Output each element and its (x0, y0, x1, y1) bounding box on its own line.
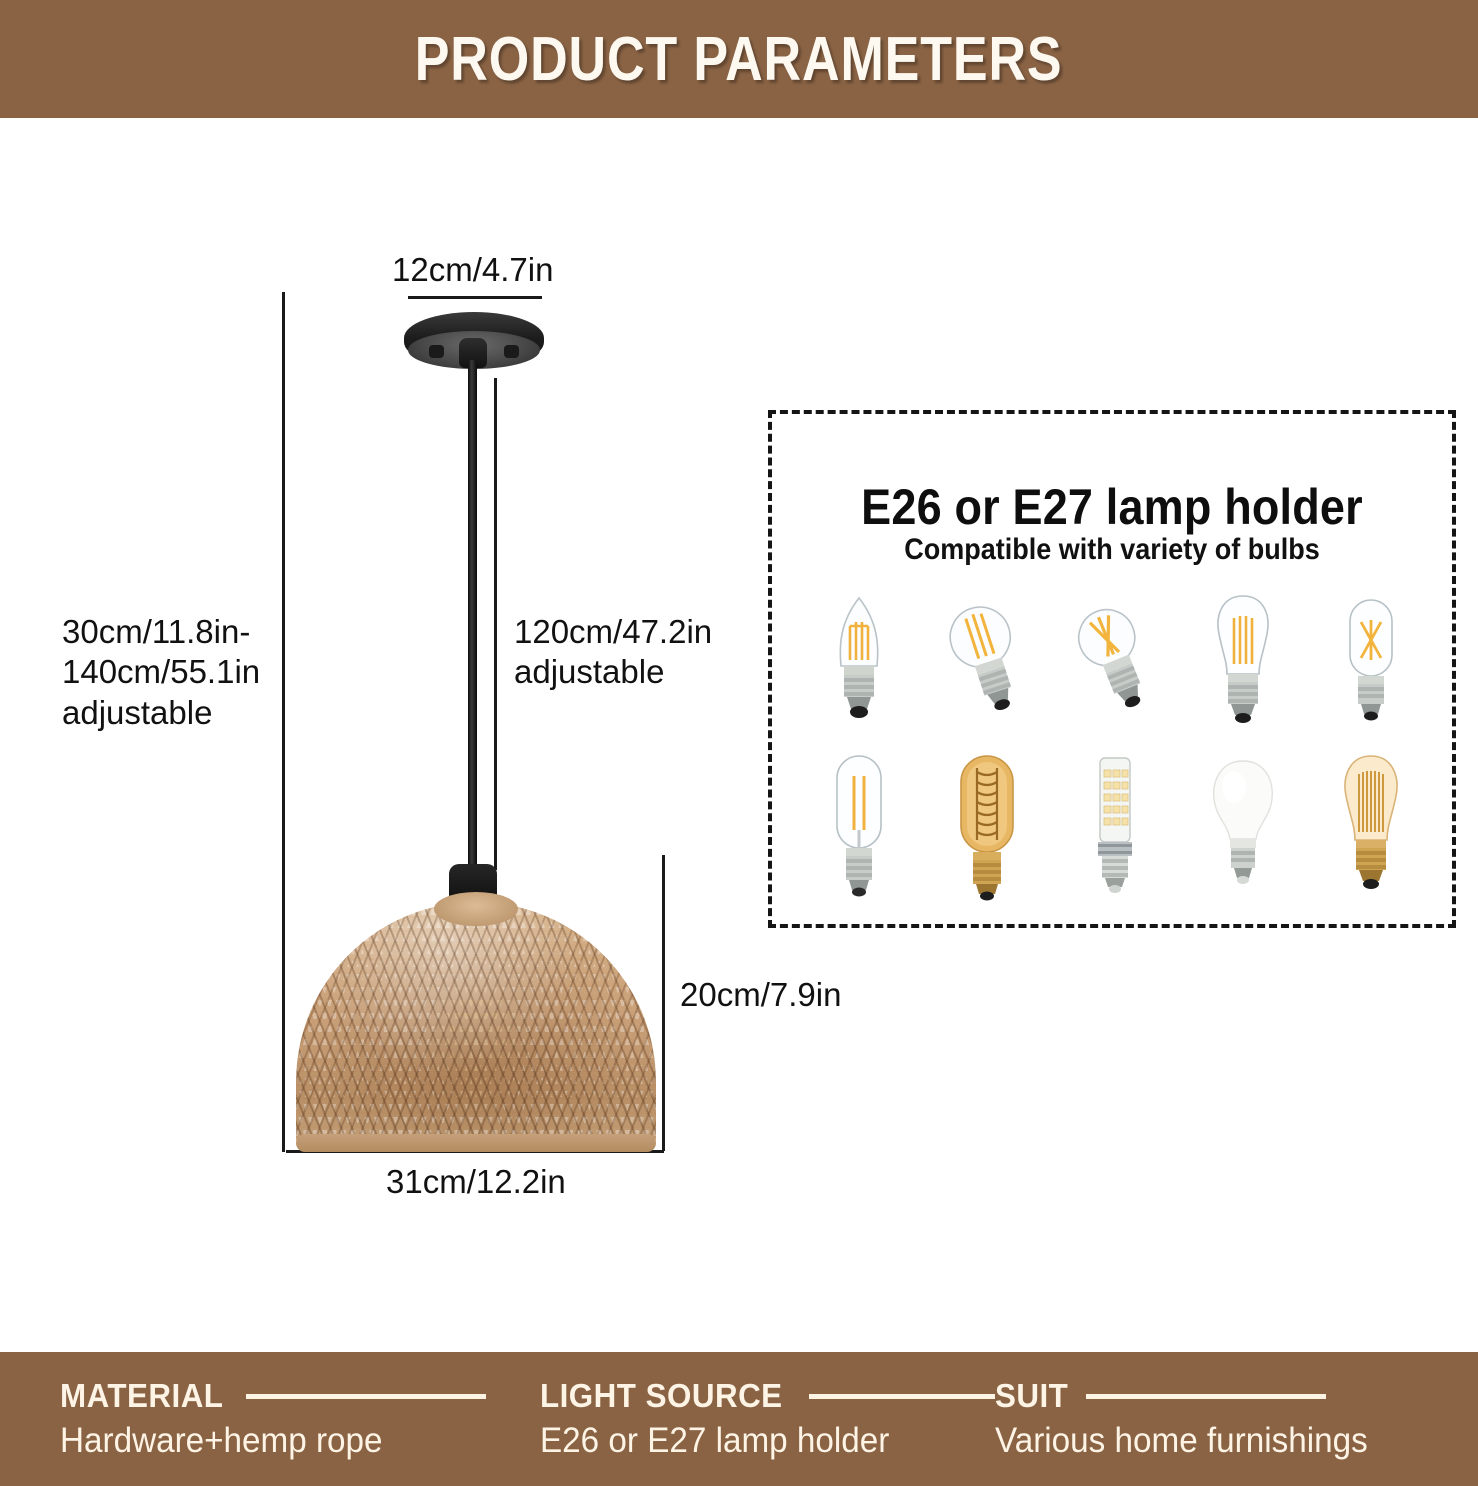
footer-value-light-source: E26 or E27 lamp holder (540, 1421, 972, 1461)
canopy-screw-hole-left (429, 345, 444, 358)
canopy-width-rule (408, 296, 542, 299)
vintage-edison-bulb-st64-amber-icon (1307, 748, 1435, 908)
total-height-rule (282, 292, 285, 1152)
tubular-bulb-t45-clear-icon (795, 748, 923, 908)
cord-length-rule (494, 378, 497, 870)
shade-top-knot (434, 892, 518, 926)
cord-length-label: 120cm/47.2in adjustable (514, 612, 712, 693)
lamp-holder-title: E26 or E27 lamp holder (802, 478, 1421, 536)
woven-rope-shade (296, 902, 656, 1152)
footer-value-suit: Various home furnishings (995, 1421, 1432, 1461)
shade-weave-texture (296, 902, 656, 1152)
page-title: PRODUCT PARAMETERS (415, 24, 1063, 95)
product-parameters-page: PRODUCT PARAMETERS 12cm/4.7in 30cm/11.8i… (0, 0, 1478, 1486)
footer-item-suit: SUIT Various home furnishings (995, 1377, 1455, 1461)
footer-rule-light-source (809, 1394, 995, 1399)
shade-diameter-label: 31cm/12.2in (386, 1162, 566, 1202)
led-corn-bulb-icon (1051, 748, 1179, 908)
footer-rule-suit (1086, 1394, 1326, 1399)
edison-bulb-st64-icon (1179, 583, 1307, 743)
frosted-bulb-a19-icon (1179, 748, 1307, 908)
globe-bulb-g45-tilted-icon (923, 583, 1051, 743)
footer-rule-material (246, 1394, 486, 1399)
lamp-holder-subtitle: Compatible with variety of bulbs (802, 533, 1421, 567)
shade-bottom-rim (296, 1134, 656, 1152)
shade-height-rule (662, 855, 665, 1151)
footer-banner: MATERIAL Hardware+hemp rope LIGHT SOURCE… (0, 1352, 1478, 1486)
vintage-tubular-bulb-amber-icon (923, 748, 1051, 908)
header-banner: PRODUCT PARAMETERS (0, 0, 1478, 118)
canopy-screw-hole-right (504, 345, 519, 358)
footer-label-material: MATERIAL (60, 1377, 223, 1415)
hanging-cord (468, 360, 477, 872)
tubular-bulb-t45-short-icon (1307, 583, 1435, 743)
compatible-bulbs-grid (795, 580, 1435, 910)
canopy-width-label: 12cm/4.7in (392, 250, 553, 290)
footer-value-material: Hardware+hemp rope (60, 1421, 516, 1461)
footer-item-light-source: LIGHT SOURCE E26 or E27 lamp holder (540, 1377, 995, 1461)
footer-label-light-source: LIGHT SOURCE (540, 1377, 783, 1415)
candle-bulb-c35-icon (795, 583, 923, 743)
total-height-label: 30cm/11.8in- 140cm/55.1in adjustable (62, 612, 260, 733)
globe-bulb-g40-tilted-icon (1051, 583, 1179, 743)
shade-height-label: 20cm/7.9in (680, 975, 841, 1015)
footer-label-suit: SUIT (995, 1377, 1068, 1415)
footer-item-material: MATERIAL Hardware+hemp rope (60, 1377, 540, 1461)
